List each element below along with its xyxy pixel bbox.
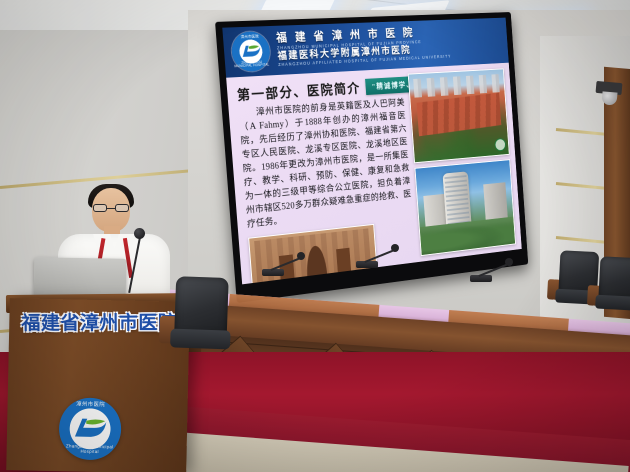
slide-body-text-value: 漳州市医院的前身是英籍医及人巴阿美（A Fahmy）于1888年创办的漳州福音医… (239, 97, 411, 228)
new-hospital-tower-photo (414, 159, 515, 256)
emblem-ring-bottom: ZHANGZHOU MUNICIPAL HOSPITAL (233, 61, 271, 69)
podium-hospital-emblem-icon: 漳州市医院 Zhangzhou Municipal Hospital (58, 397, 121, 460)
slide-canvas: 漳州市医院 ZHANGZHOU MUNICIPAL HOSPITAL 福 建 省… (222, 18, 521, 285)
hospital-emblem-icon: 漳州市医院 ZHANGZHOU MUNICIPAL HOSPITAL (230, 31, 271, 72)
slide-body-text: 漳州市医院的前身是英籍医及人巴阿美（A Fahmy）于1888年创办的漳州福音医… (238, 96, 413, 231)
podium-microphone-head[interactable] (134, 228, 145, 239)
podium-emblem-bird-glyph (72, 414, 109, 441)
old-campus-aerial-photo (408, 68, 510, 163)
photo-seal-icon (494, 138, 506, 152)
slide-photo-column (405, 63, 521, 262)
emblem-bird-glyph (240, 42, 262, 60)
emblem-ring-top: 漳州市医院 (231, 34, 269, 39)
eyeglasses-icon (93, 204, 129, 212)
slide-body: 第一部分、医院简介 "精诚博学、仁爱致远" 漳州市医院的前身是英籍医及人巴阿美（… (226, 63, 522, 285)
banner-text-block: 福 建 省 漳 州 市 医 院 ZHANGZHOU MUNICIPAL HOSP… (276, 26, 452, 68)
podium-emblem-ring-bottom: Zhangzhou Municipal Hospital (59, 444, 121, 454)
conference-room-photo: 漳州市医院 ZHANGZHOU MUNICIPAL HOSPITAL 福 建 省… (0, 0, 630, 472)
podium-emblem-ring-top: 漳州市医院 (60, 402, 122, 409)
